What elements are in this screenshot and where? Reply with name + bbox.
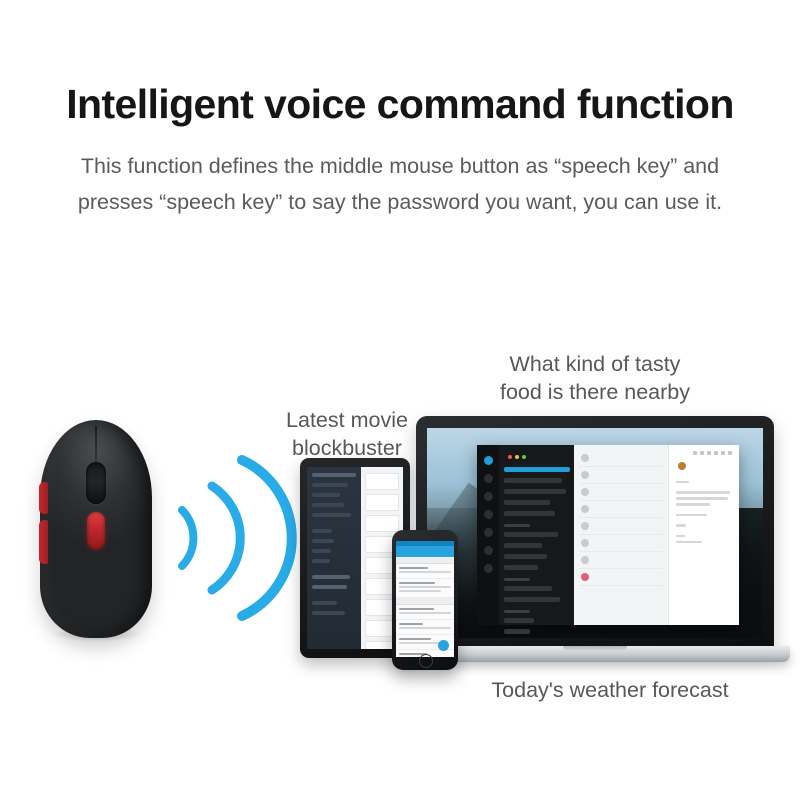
side-button-bottom[interactable] xyxy=(39,520,48,564)
more-icon[interactable] xyxy=(728,451,732,455)
tablet-nav-item[interactable] xyxy=(312,585,347,589)
tablet-nav-item[interactable] xyxy=(312,513,351,517)
email-client-window[interactable] xyxy=(477,445,739,626)
callout-tasty-food: What kind of tasty food is there nearby xyxy=(470,350,720,407)
phone-app-header[interactable] xyxy=(396,546,454,557)
sidebar-item-account-work[interactable] xyxy=(504,597,561,602)
tablet-nav-item[interactable] xyxy=(312,493,340,497)
message-list[interactable] xyxy=(574,445,669,626)
tablet-nav-item[interactable] xyxy=(312,611,345,615)
sidebar-item-drafts[interactable] xyxy=(504,500,550,505)
wireless-mouse xyxy=(40,420,152,638)
phone-list-item[interactable] xyxy=(396,605,454,620)
tablet-nav-item[interactable] xyxy=(312,549,331,553)
sound-wave-icon xyxy=(172,442,302,632)
contacts-icon[interactable] xyxy=(484,492,493,501)
message-row[interactable] xyxy=(579,484,663,501)
search-icon[interactable] xyxy=(484,456,493,465)
message-row[interactable] xyxy=(579,501,663,518)
tablet-card[interactable] xyxy=(365,515,399,532)
reply-all-icon[interactable] xyxy=(700,451,704,455)
sidebar-item-unread[interactable] xyxy=(504,478,562,483)
avatar xyxy=(581,573,589,581)
sidebar-nav xyxy=(499,445,575,626)
sidebar-item-archive[interactable] xyxy=(504,554,548,559)
tablet-card[interactable] xyxy=(365,494,399,511)
tablet-nav-item[interactable] xyxy=(312,539,334,543)
minimize-icon[interactable] xyxy=(515,455,519,459)
phone-section-header xyxy=(396,557,454,564)
side-button-top[interactable] xyxy=(39,482,48,514)
phone-list-item[interactable] xyxy=(396,564,454,579)
reading-pane[interactable] xyxy=(669,445,739,626)
message-row[interactable] xyxy=(579,518,663,535)
files-icon[interactable] xyxy=(484,528,493,537)
phone-compose-button[interactable] xyxy=(438,640,449,651)
avatar xyxy=(581,505,589,513)
forward-icon[interactable] xyxy=(707,451,711,455)
sidebar-item-social[interactable] xyxy=(504,543,542,548)
sidebar-item-starred[interactable] xyxy=(504,489,566,494)
laptop-base xyxy=(400,646,790,662)
tablet-nav-item[interactable] xyxy=(312,575,350,579)
avatar xyxy=(678,462,686,470)
sidebar-item-inbox[interactable] xyxy=(504,467,570,472)
page-title: Intelligent voice command function xyxy=(0,82,800,127)
message-signature-name xyxy=(676,535,685,538)
sidebar-item-all-mail[interactable] xyxy=(504,532,558,537)
mail-icon[interactable] xyxy=(484,474,493,483)
sidebar-item-flagged[interactable] xyxy=(504,565,538,570)
message-signoff xyxy=(676,524,686,527)
phone-home-button[interactable] xyxy=(419,654,433,668)
tablet-screen xyxy=(307,467,403,649)
laptop-notch xyxy=(563,646,627,651)
calendar-icon[interactable] xyxy=(484,510,493,519)
message-row[interactable] xyxy=(579,552,663,569)
sidebar-section-labels xyxy=(504,610,530,613)
close-icon[interactable] xyxy=(508,455,512,459)
sidebar-item-label-one[interactable] xyxy=(504,618,534,623)
speech-key-button[interactable] xyxy=(87,512,105,550)
tablet-sidebar[interactable] xyxy=(307,467,361,649)
message-signature-email xyxy=(676,541,702,544)
settings-icon[interactable] xyxy=(484,564,493,573)
message-body-line xyxy=(676,503,710,506)
sidebar-item-label-two[interactable] xyxy=(504,629,530,634)
mouse-body xyxy=(40,420,152,638)
message-greeting xyxy=(676,481,688,484)
page-subtitle: This function defines the middle mouse b… xyxy=(50,148,750,220)
archive-icon[interactable] xyxy=(714,451,718,455)
smartphone xyxy=(392,530,458,670)
voice-signal-waves xyxy=(172,442,302,632)
message-body-line xyxy=(676,491,730,494)
sidebar-section-folders xyxy=(504,524,530,527)
avatar xyxy=(581,471,589,479)
tablet-nav-item[interactable] xyxy=(312,559,330,563)
tablet-nav-item[interactable] xyxy=(312,503,344,507)
message-body-line xyxy=(676,514,706,517)
avatar xyxy=(581,454,589,462)
message-row[interactable] xyxy=(579,569,663,586)
laptop-lid xyxy=(416,416,774,648)
phone-screen xyxy=(396,541,454,657)
message-header xyxy=(676,462,732,474)
avatar xyxy=(581,539,589,547)
avatar xyxy=(581,522,589,530)
scroll-wheel-icon[interactable] xyxy=(86,462,106,504)
sidebar-item-account-personal[interactable] xyxy=(504,586,553,591)
phone-list-item[interactable] xyxy=(396,620,454,635)
message-row[interactable] xyxy=(579,450,663,467)
avatar xyxy=(581,488,589,496)
reply-icon[interactable] xyxy=(693,451,697,455)
tablet-nav-item[interactable] xyxy=(312,483,348,487)
phone-section-header xyxy=(396,598,454,605)
sidebar-section-accounts xyxy=(504,578,530,581)
sidebar-item-sent[interactable] xyxy=(504,511,555,516)
maximize-icon[interactable] xyxy=(522,455,526,459)
notes-icon[interactable] xyxy=(484,546,493,555)
avatar xyxy=(581,556,589,564)
tablet-card[interactable] xyxy=(365,473,399,490)
icon-rail xyxy=(477,445,498,626)
tablet-nav-item[interactable] xyxy=(312,473,356,477)
tablet-nav-item[interactable] xyxy=(312,529,332,533)
window-traffic-lights[interactable] xyxy=(504,451,570,467)
phone-list-item[interactable] xyxy=(396,579,454,598)
tablet-nav-item[interactable] xyxy=(312,601,337,605)
message-row[interactable] xyxy=(579,467,663,484)
reading-pane-toolbar[interactable] xyxy=(676,451,732,455)
delete-icon[interactable] xyxy=(721,451,725,455)
email-sidebar xyxy=(477,445,574,626)
laptop-screen xyxy=(427,428,763,638)
device-group xyxy=(296,400,776,710)
laptop xyxy=(416,416,774,674)
message-row[interactable] xyxy=(579,535,663,552)
message-body-line xyxy=(676,497,728,500)
